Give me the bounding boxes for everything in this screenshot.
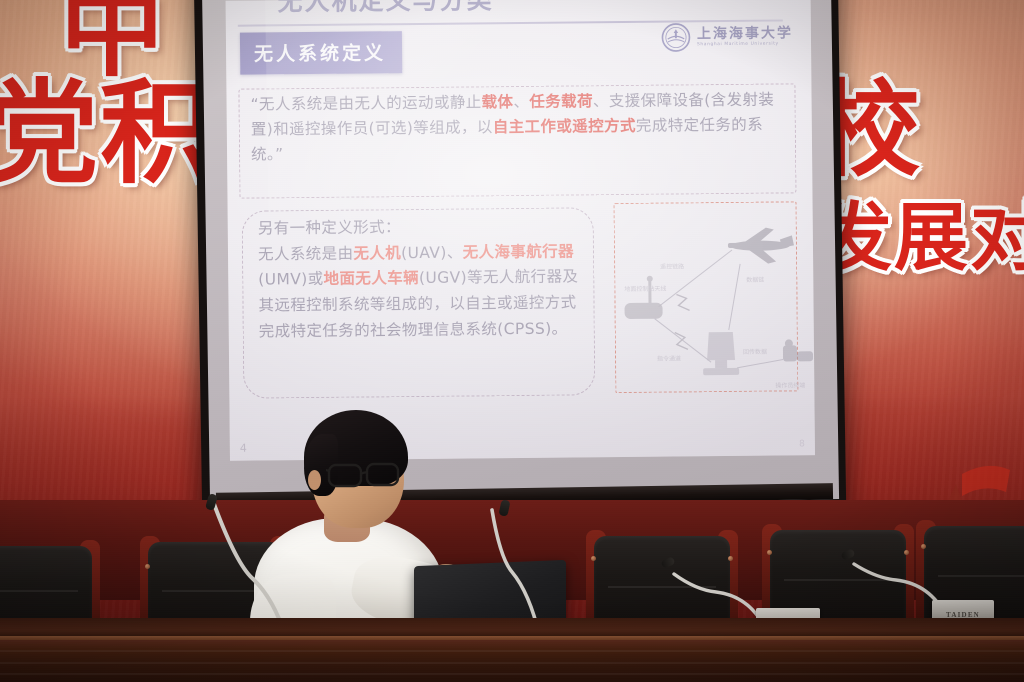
diagram-label-3: 回传数据 bbox=[743, 348, 767, 356]
seg-a0: “无人系统是由无人的运动或静止 bbox=[250, 93, 481, 113]
diagram-label-0: 遥控链路 bbox=[660, 262, 684, 270]
presenter-glasses-icon bbox=[326, 458, 412, 492]
seg-b0: 另有一种定义形式： bbox=[258, 218, 401, 237]
seg-a2: 、 bbox=[513, 93, 529, 111]
diagram-node-1: 地面控制站天线 bbox=[624, 285, 666, 293]
university-seal-icon bbox=[661, 22, 691, 52]
slide-paragraph-alt-definition: 另有一种定义形式： 无人系统是由无人机(UAV)、无人海事航行器(UMV)或地面… bbox=[258, 213, 589, 345]
seg-a3-highlight: 任务载荷 bbox=[529, 92, 593, 111]
diagram-label-1: 数据链 bbox=[746, 276, 764, 284]
presenter-ear bbox=[308, 470, 321, 490]
presentation-slide: 无人机定义与分类 上海海事大学 Shanghai Maritime Uni bbox=[226, 0, 815, 461]
university-name-en: Shanghai Maritime University bbox=[697, 42, 793, 47]
seg-a5-highlight: 自主工作或遥控方式 bbox=[493, 117, 636, 136]
diagram-node-3: 操作员终端 bbox=[775, 381, 805, 389]
desk-front-panel bbox=[0, 640, 1024, 682]
seg-b4: (UAV)、 bbox=[401, 243, 463, 262]
diagram-label-2: 指令通道 bbox=[657, 354, 681, 362]
university-logo-text: 上海海事大学 Shanghai Maritime University bbox=[697, 26, 793, 48]
slide-system-diagram: 遥控链路 数据链 指令通道 回传数据 地面控制站天线 操作员终端 bbox=[614, 201, 815, 393]
slide-title: 无人机定义与分类 bbox=[277, 0, 493, 18]
slide-paragraph-definition: “无人系统是由无人的运动或静止载体、任务载荷、支援保障设备(含发射装置)和遥控操… bbox=[250, 87, 786, 167]
slide-section-chip: 无人系统定义 bbox=[240, 31, 402, 75]
slide-corner-mark: 8 bbox=[799, 439, 805, 449]
slide-page-number: 4 bbox=[240, 442, 247, 455]
banner-char-row-4: 发展对象培 bbox=[818, 204, 1024, 274]
presentation-photo-scene: 中 央 党积极 校 发展对象培 无人机定义与分类 bbox=[0, 0, 1024, 682]
seg-b7-highlight: 地面无人车辆 bbox=[324, 269, 420, 288]
seg-b6: (UMV)或 bbox=[258, 270, 323, 289]
university-logo: 上海海事大学 Shanghai Maritime University bbox=[661, 21, 793, 52]
seg-b5-highlight: 无人海事航行器 bbox=[463, 242, 574, 261]
university-name-cn: 上海海事大学 bbox=[697, 26, 793, 41]
seg-b3-highlight: 无人机 bbox=[353, 244, 401, 262]
seg-b2: 无人系统是由 bbox=[258, 244, 354, 263]
seg-a1-highlight: 载体 bbox=[482, 93, 514, 111]
